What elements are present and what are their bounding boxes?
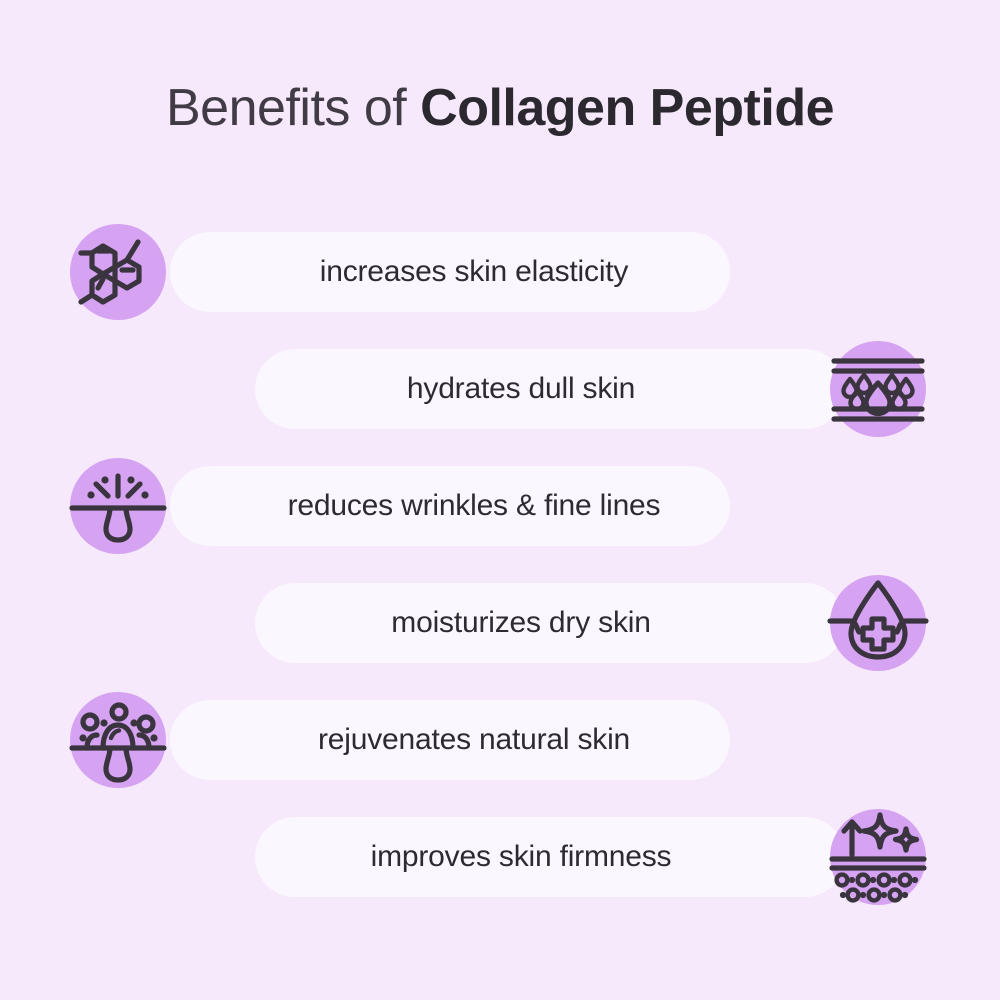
water-droplets-skin-layers-icon bbox=[830, 341, 926, 437]
skin-cell-bubbles-icon bbox=[70, 692, 166, 788]
benefit-row: hydrates dull skin bbox=[0, 330, 1000, 448]
header: Benefits of Collagen Peptide bbox=[0, 0, 1000, 215]
benefit-label: moisturizes dry skin bbox=[391, 606, 650, 640]
benefits-list: increases skin elasticity bbox=[0, 213, 1000, 1000]
benefit-row: improves skin firmness bbox=[0, 798, 1000, 916]
droplet-plus-icon bbox=[830, 575, 926, 671]
firmness-arrow-sparkle-icon bbox=[830, 809, 926, 905]
benefit-label: increases skin elasticity bbox=[320, 255, 628, 289]
skin-pore-radiating-lines-icon bbox=[70, 458, 166, 554]
benefit-icon-bubble bbox=[830, 575, 926, 671]
benefit-row: rejuvenates natural skin bbox=[0, 681, 1000, 799]
benefit-row: reduces wrinkles & fine lines bbox=[0, 447, 1000, 565]
benefit-pill: rejuvenates natural skin bbox=[170, 700, 730, 780]
benefit-label: reduces wrinkles & fine lines bbox=[288, 489, 661, 523]
benefit-row: increases skin elasticity bbox=[0, 213, 1000, 331]
benefit-icon-bubble bbox=[70, 458, 166, 554]
benefit-label: improves skin firmness bbox=[371, 840, 672, 874]
benefit-label: hydrates dull skin bbox=[407, 372, 635, 406]
benefit-icon-bubble bbox=[70, 224, 166, 320]
benefit-label: rejuvenates natural skin bbox=[318, 723, 630, 757]
benefit-icon-bubble bbox=[830, 341, 926, 437]
benefit-pill: reduces wrinkles & fine lines bbox=[170, 466, 730, 546]
benefit-pill: increases skin elasticity bbox=[170, 232, 730, 312]
benefit-pill: hydrates dull skin bbox=[255, 349, 845, 429]
page-title-bold: Collagen Peptide bbox=[420, 79, 834, 137]
benefit-row: moisturizes dry skin bbox=[0, 564, 1000, 682]
molecule-hexagon-icon bbox=[70, 224, 166, 320]
benefit-icon-bubble bbox=[70, 692, 166, 788]
benefit-icon-bubble bbox=[830, 809, 926, 905]
page-title: Benefits of Collagen Peptide bbox=[166, 82, 834, 134]
page-title-light: Benefits of bbox=[166, 79, 420, 137]
benefit-pill: improves skin firmness bbox=[255, 817, 845, 897]
benefit-pill: moisturizes dry skin bbox=[255, 583, 845, 663]
